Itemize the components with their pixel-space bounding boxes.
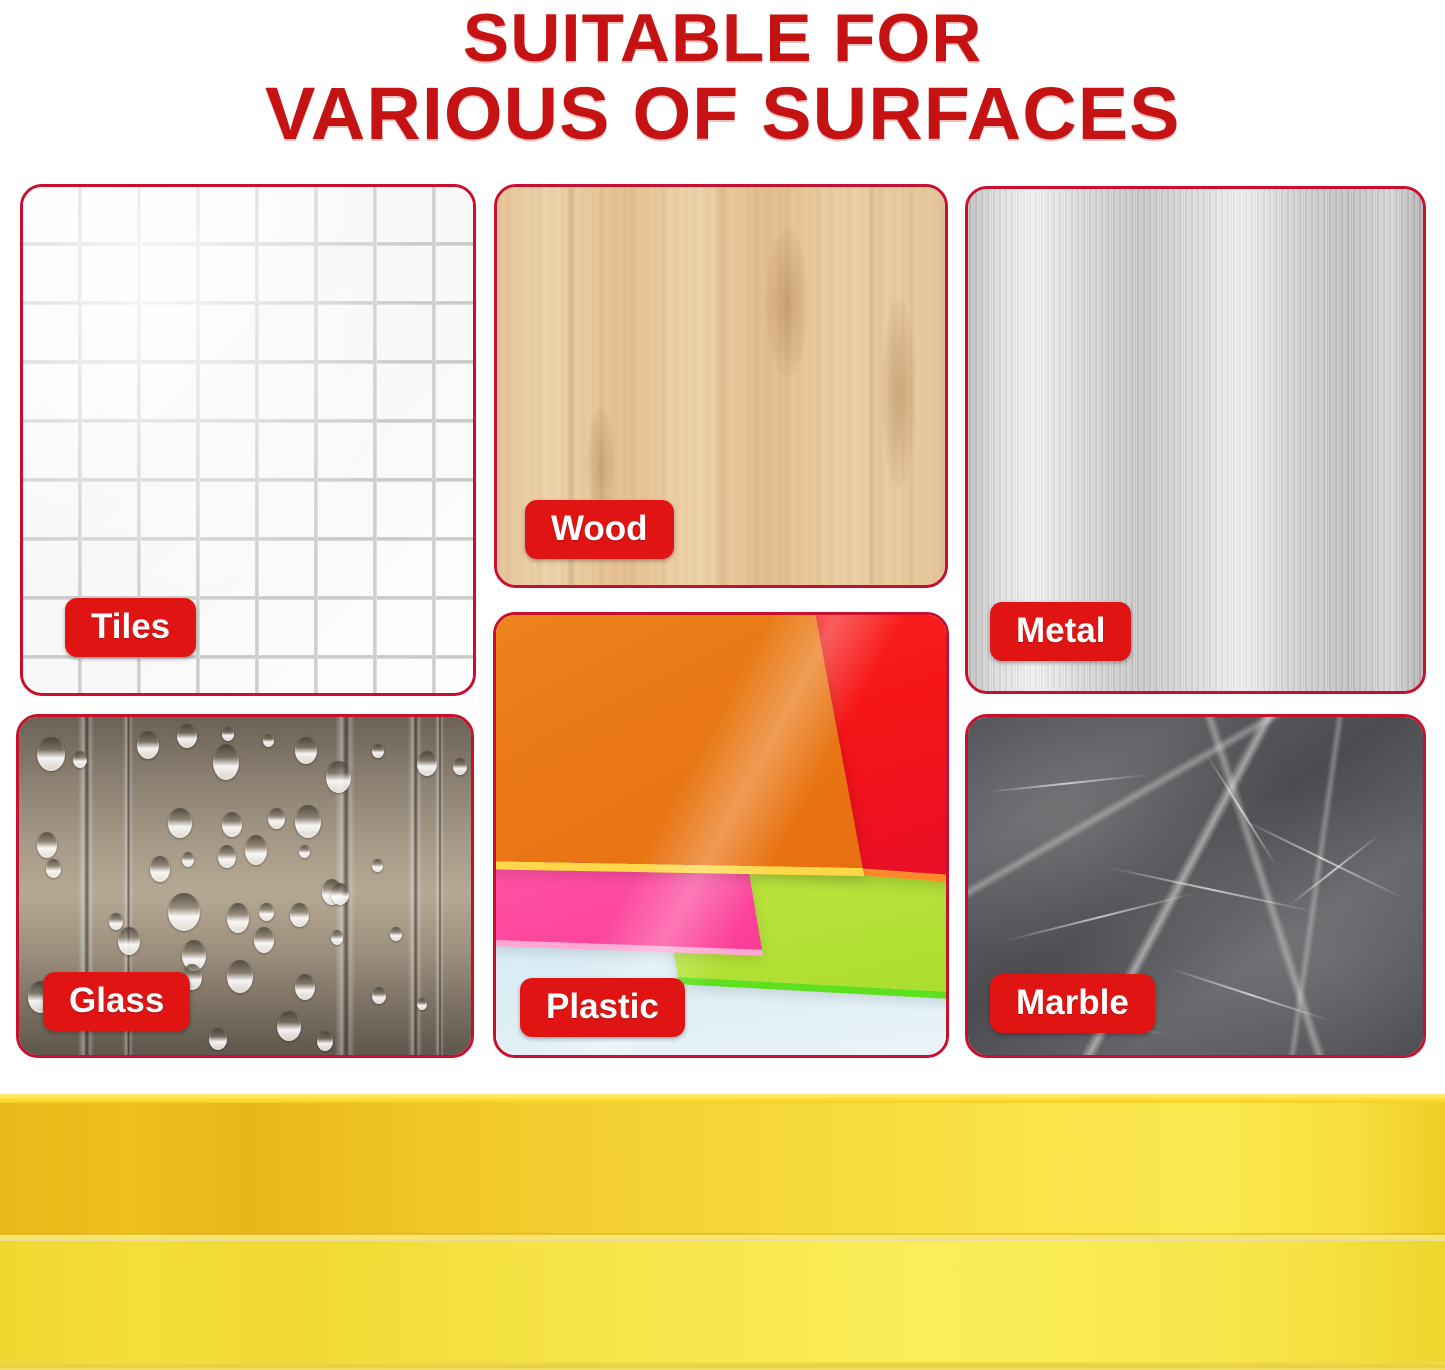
band-lower-face: [0, 1241, 1445, 1362]
band-seam-line: [0, 1233, 1445, 1241]
surface-card-plastic[interactable]: Plastic: [493, 612, 949, 1058]
surface-card-wood[interactable]: Wood: [494, 184, 948, 588]
surface-label-marble: Marble: [990, 974, 1155, 1033]
surface-card-metal[interactable]: Metal: [965, 186, 1426, 694]
band-top-highlight: [0, 1094, 1445, 1103]
surface-label-wood: Wood: [525, 500, 674, 559]
surface-label-glass: Glass: [43, 972, 190, 1031]
product-band: [0, 1094, 1445, 1370]
surface-label-plastic: Plastic: [520, 978, 685, 1037]
band-bottom-edge: [0, 1362, 1445, 1370]
surface-card-glass[interactable]: Glass: [16, 714, 474, 1058]
surface-card-marble[interactable]: Marble: [965, 714, 1426, 1058]
surface-label-tiles: Tiles: [65, 598, 196, 657]
surface-label-metal: Metal: [990, 602, 1131, 661]
surface-grid: Tiles Wood Metal: [0, 0, 1445, 1075]
band-upper-face: [0, 1103, 1445, 1235]
surface-card-tiles[interactable]: Tiles: [20, 184, 476, 696]
